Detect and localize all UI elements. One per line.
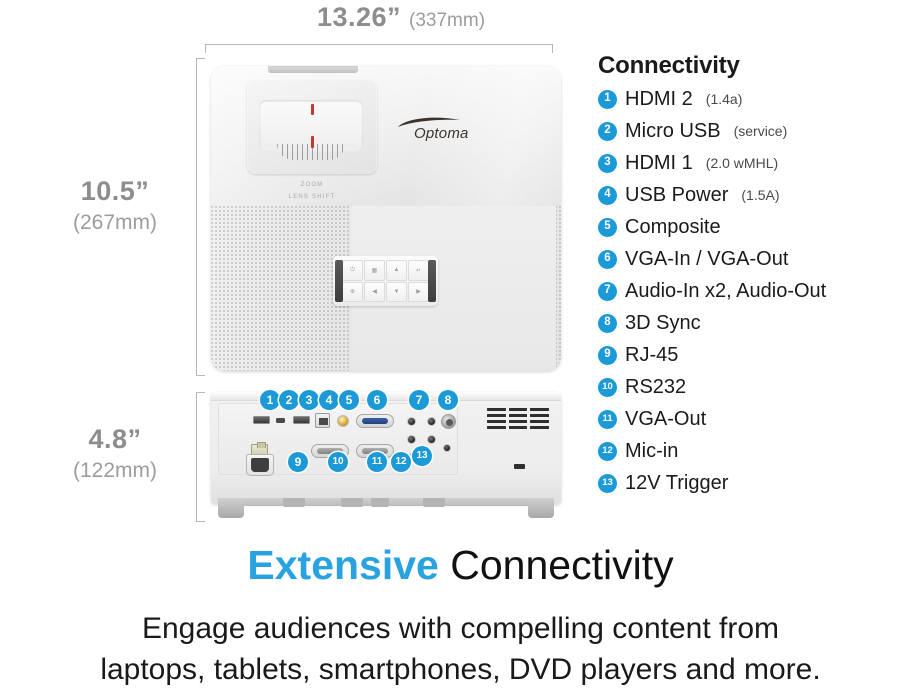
connectivity-item-5: 5Composite bbox=[598, 211, 921, 243]
port-audio-in-1-icon bbox=[407, 417, 416, 426]
key-right[interactable]: ▶ bbox=[408, 282, 429, 303]
port-micro-usb-icon bbox=[276, 418, 285, 423]
rear-vent-grille bbox=[487, 408, 549, 444]
dimension-depth-mm: (122mm) bbox=[40, 459, 190, 483]
dimension-width-mm: (337mm) bbox=[409, 10, 485, 32]
projector-feet bbox=[211, 498, 561, 522]
dimension-tick-height-top bbox=[196, 58, 205, 59]
connectivity-label-10: RS232 bbox=[625, 376, 686, 399]
power-inlet-icon bbox=[246, 454, 274, 476]
key-menu[interactable]: ⊕ bbox=[342, 282, 363, 303]
connectivity-item-1: 1HDMI 2(1.4a) bbox=[598, 83, 921, 115]
vent-slat bbox=[487, 426, 506, 429]
dimension-height-mm: (267mm) bbox=[40, 211, 190, 235]
connectivity-label-13: 12V Trigger bbox=[625, 472, 728, 495]
callout-2: 2 bbox=[279, 390, 299, 410]
projector-top-view: ZOOM LENS SHIFT Optoma ⏻ ▦ ▲ ↵ ⊕ ◀ ▼ ▶ bbox=[211, 66, 561, 371]
port-vga-in-contacts bbox=[362, 418, 388, 424]
dimension-tick-top-right bbox=[552, 44, 553, 53]
key-enter[interactable]: ↵ bbox=[408, 260, 429, 281]
callout-11: 11 bbox=[367, 452, 387, 472]
connectivity-bullet-6: 6 bbox=[598, 250, 617, 269]
callout-7: 7 bbox=[409, 390, 429, 410]
connectivity-label-2: Micro USB bbox=[625, 120, 721, 143]
port-3d-sync-icon bbox=[441, 414, 456, 429]
connectivity-item-9: 9RJ-45 bbox=[598, 339, 921, 371]
foot-right bbox=[528, 498, 554, 518]
callout-12: 12 bbox=[391, 452, 411, 472]
vent-column bbox=[487, 408, 506, 444]
dimension-guide-top bbox=[205, 44, 553, 45]
key-power[interactable]: ⏻ bbox=[342, 260, 363, 281]
callout-9: 9 bbox=[288, 452, 308, 472]
projector-keypad[interactable]: ⏻ ▦ ▲ ↵ ⊕ ◀ ▼ ▶ bbox=[333, 256, 438, 306]
port-audio-in-2-icon bbox=[407, 435, 416, 444]
connectivity-bullet-5: 5 bbox=[598, 218, 617, 237]
connectivity-label-12: Mic-in bbox=[625, 440, 678, 463]
dimension-depth-inches: 4.8” bbox=[40, 424, 190, 455]
port-12v-trigger-icon bbox=[443, 444, 451, 452]
vent-slat bbox=[509, 408, 528, 411]
headline: Extensive Connectivity bbox=[0, 545, 921, 586]
connectivity-item-11: 11VGA-Out bbox=[598, 403, 921, 435]
port-vga-in-icon bbox=[356, 414, 394, 428]
connectivity-note-3: (2.0 wMHL) bbox=[706, 155, 778, 171]
vent-slat bbox=[487, 408, 506, 411]
dimension-tick-depth-bottom bbox=[196, 521, 205, 522]
description-line-1: Engage audiences with compelling content… bbox=[0, 608, 921, 649]
dimension-guide-depth bbox=[196, 392, 197, 522]
callout-1: 1 bbox=[260, 390, 280, 410]
callout-5: 5 bbox=[339, 390, 359, 410]
dimension-guide-height bbox=[196, 58, 197, 376]
port-aux-audio-icon bbox=[427, 435, 436, 444]
callout-8: 8 bbox=[438, 390, 458, 410]
kensington-lock-icon bbox=[514, 464, 525, 469]
connectivity-title: Connectivity bbox=[598, 52, 921, 80]
zoom-label: ZOOM bbox=[247, 182, 377, 188]
connectivity-bullet-10: 10 bbox=[598, 378, 617, 397]
connectivity-bullet-7: 7 bbox=[598, 282, 617, 301]
key-down[interactable]: ▼ bbox=[386, 282, 407, 303]
connectivity-label-7: Audio-In x2, Audio-Out bbox=[625, 280, 826, 303]
headline-accent: Extensive bbox=[247, 542, 438, 588]
optoma-wordmark: Optoma bbox=[414, 125, 469, 142]
callout-4: 4 bbox=[319, 390, 339, 410]
callout-6: 6 bbox=[367, 390, 387, 410]
connectivity-label-8: 3D Sync bbox=[625, 312, 701, 335]
connectivity-bullet-8: 8 bbox=[598, 314, 617, 333]
connectivity-label-4: USB Power bbox=[625, 184, 728, 207]
connectivity-bullet-13: 13 bbox=[598, 474, 617, 493]
connectivity-item-8: 83D Sync bbox=[598, 307, 921, 339]
connectivity-label-3: HDMI 1 bbox=[625, 152, 693, 175]
port-usb-power-icon bbox=[315, 413, 330, 428]
port-hdmi-1-icon bbox=[293, 416, 310, 424]
projector-focus-bar bbox=[268, 66, 358, 73]
connectivity-item-6: 6VGA-In / VGA-Out bbox=[598, 243, 921, 275]
description-line-2: laptops, tablets, smartphones, DVD playe… bbox=[0, 649, 921, 690]
dimension-label-depth: 4.8” (122mm) bbox=[40, 424, 190, 483]
connectivity-bullet-1: 1 bbox=[598, 90, 617, 109]
vent-slat bbox=[530, 420, 549, 423]
foot-left bbox=[218, 498, 244, 518]
connectivity-label-6: VGA-In / VGA-Out bbox=[625, 248, 788, 271]
description-paragraph: Engage audiences with compelling content… bbox=[0, 608, 921, 690]
lens-shift-label: LENS SHIFT bbox=[247, 194, 377, 200]
connectivity-bullet-9: 9 bbox=[598, 346, 617, 365]
port-mic-in-icon bbox=[427, 417, 436, 426]
lens-shift-marker-top bbox=[311, 104, 314, 115]
dimension-tick-height-bottom bbox=[196, 375, 205, 376]
connectivity-item-2: 2Micro USB(service) bbox=[598, 115, 921, 147]
vent-column bbox=[509, 408, 528, 444]
port-hdmi-2-icon bbox=[253, 416, 270, 424]
projector-rear-view: 12345678910111213 bbox=[211, 392, 561, 522]
connectivity-bullet-4: 4 bbox=[598, 186, 617, 205]
foot-mid-2 bbox=[341, 498, 363, 507]
vent-slat bbox=[487, 414, 506, 417]
headline-rest: Connectivity bbox=[450, 542, 673, 588]
connectivity-label-5: Composite bbox=[625, 216, 721, 239]
vent-slat bbox=[530, 426, 549, 429]
connectivity-item-4: 4USB Power(1.5A) bbox=[598, 179, 921, 211]
dimension-label-width: 13.26” (337mm) bbox=[236, 2, 566, 33]
callout-10: 10 bbox=[328, 452, 348, 472]
key-source[interactable]: ▦ bbox=[364, 260, 385, 281]
connectivity-note-2: (service) bbox=[734, 123, 788, 139]
foot-mid-4 bbox=[423, 498, 445, 507]
connectivity-panel: Connectivity 1HDMI 2(1.4a)2Micro USB(ser… bbox=[598, 52, 921, 499]
lens-shift-marker-bottom bbox=[311, 136, 314, 148]
connectivity-item-12: 12Mic-in bbox=[598, 435, 921, 467]
connectivity-bullet-3: 3 bbox=[598, 154, 617, 173]
connectivity-label-1: HDMI 2 bbox=[625, 88, 693, 111]
keypad-bezel-right bbox=[428, 260, 436, 302]
vent-slat bbox=[487, 420, 506, 423]
connectivity-label-11: VGA-Out bbox=[625, 408, 706, 431]
key-left[interactable]: ◀ bbox=[364, 282, 385, 303]
infographic-canvas: 13.26” (337mm) 10.5” (267mm) 4.8” (122mm… bbox=[0, 0, 921, 700]
connectivity-item-7: 7Audio-In x2, Audio-Out bbox=[598, 275, 921, 307]
connectivity-item-3: 3HDMI 1(2.0 wMHL) bbox=[598, 147, 921, 179]
lens-shift-panel bbox=[247, 78, 377, 174]
connectivity-item-10: 10RS232 bbox=[598, 371, 921, 403]
vent-column bbox=[530, 408, 549, 444]
vent-slat bbox=[509, 414, 528, 417]
keypad-bezel-left bbox=[335, 260, 343, 302]
connectivity-bullet-12: 12 bbox=[598, 442, 617, 461]
connectivity-note-1: (1.4a) bbox=[706, 91, 743, 107]
connectivity-label-9: RJ-45 bbox=[625, 344, 678, 367]
connectivity-item-13: 1312V Trigger bbox=[598, 467, 921, 499]
key-up[interactable]: ▲ bbox=[386, 260, 407, 281]
connectivity-bullet-2: 2 bbox=[598, 122, 617, 141]
projector-rear-body bbox=[211, 392, 561, 504]
foot-mid-3 bbox=[371, 498, 389, 507]
vent-slat bbox=[509, 420, 528, 423]
dimension-width-inches: 13.26” bbox=[317, 2, 401, 33]
callout-3: 3 bbox=[299, 390, 319, 410]
vent-slat bbox=[530, 408, 549, 411]
connectivity-bullet-11: 11 bbox=[598, 410, 617, 429]
dimension-tick-top-left bbox=[205, 44, 206, 53]
foot-mid-1 bbox=[283, 498, 305, 507]
vent-slat bbox=[509, 426, 528, 429]
port-composite-icon bbox=[337, 415, 349, 427]
dimension-label-height: 10.5” (267mm) bbox=[40, 176, 190, 235]
optoma-logo: Optoma bbox=[396, 116, 504, 144]
dimension-height-inches: 10.5” bbox=[40, 176, 190, 207]
connectivity-note-4: (1.5A) bbox=[741, 187, 779, 203]
callout-13: 13 bbox=[412, 446, 432, 466]
connectivity-list: 1HDMI 2(1.4a)2Micro USB(service)3HDMI 1(… bbox=[598, 83, 921, 499]
vent-slat bbox=[530, 414, 549, 417]
dimension-tick-depth-top bbox=[196, 392, 205, 393]
